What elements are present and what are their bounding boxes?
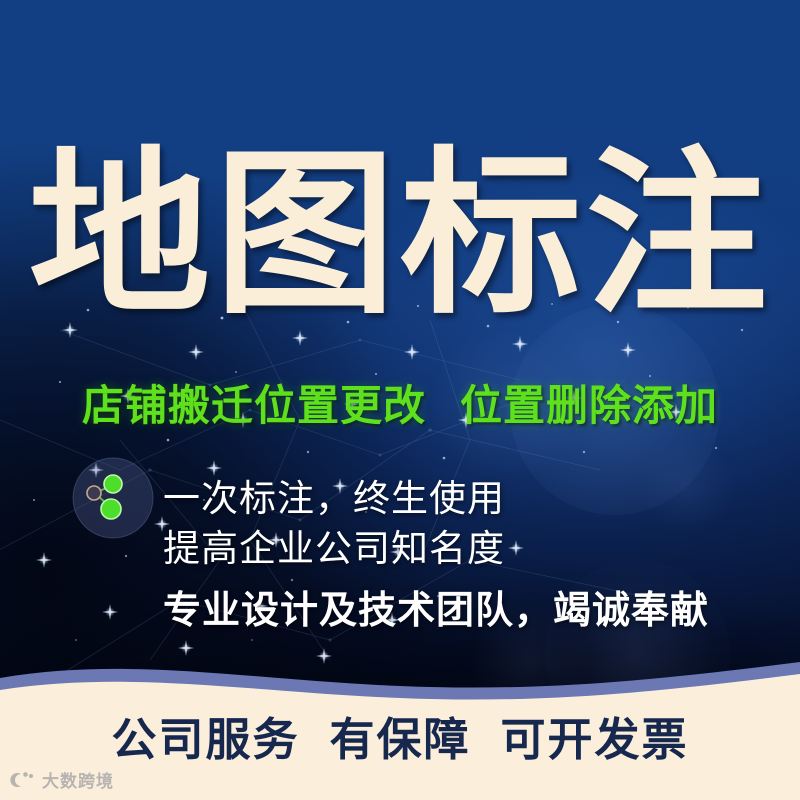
feature-line-1: 一次标注，终生使用 bbox=[163, 474, 723, 524]
service-badge-2: 有保障 bbox=[329, 714, 470, 765]
promo-poster: 地图标注 店铺搬迁位置更改位置删除添加 一次标注，终生使用 提高企业公司知名度 … bbox=[0, 0, 800, 800]
bottom-wave-band: 公司服务有保障可开发票 bbox=[0, 650, 800, 800]
feature-line-2: 提高企业公司知名度 bbox=[163, 524, 723, 574]
page-title: 地图标注 bbox=[0, 137, 800, 333]
subtitle-left: 店铺搬迁位置更改 bbox=[82, 382, 426, 429]
service-badge-3: 可开发票 bbox=[501, 714, 689, 765]
service-badge-1: 公司服务 bbox=[111, 714, 299, 765]
subtitle: 店铺搬迁位置更改位置删除添加 bbox=[0, 383, 800, 429]
service-badges: 公司服务有保障可开发票 bbox=[0, 715, 800, 765]
feature-list: 一次标注，终生使用 提高企业公司知名度 专业设计及技术团队，竭诚奉献 bbox=[163, 474, 723, 636]
circle-paw-logo-icon bbox=[10, 770, 36, 790]
watermark: 大数跨境 bbox=[10, 767, 114, 792]
watermark-label: 大数跨境 bbox=[42, 767, 114, 792]
feature-line-3: 专业设计及技术团队，竭诚奉献 bbox=[163, 586, 723, 636]
subtitle-right: 位置删除添加 bbox=[460, 382, 718, 429]
